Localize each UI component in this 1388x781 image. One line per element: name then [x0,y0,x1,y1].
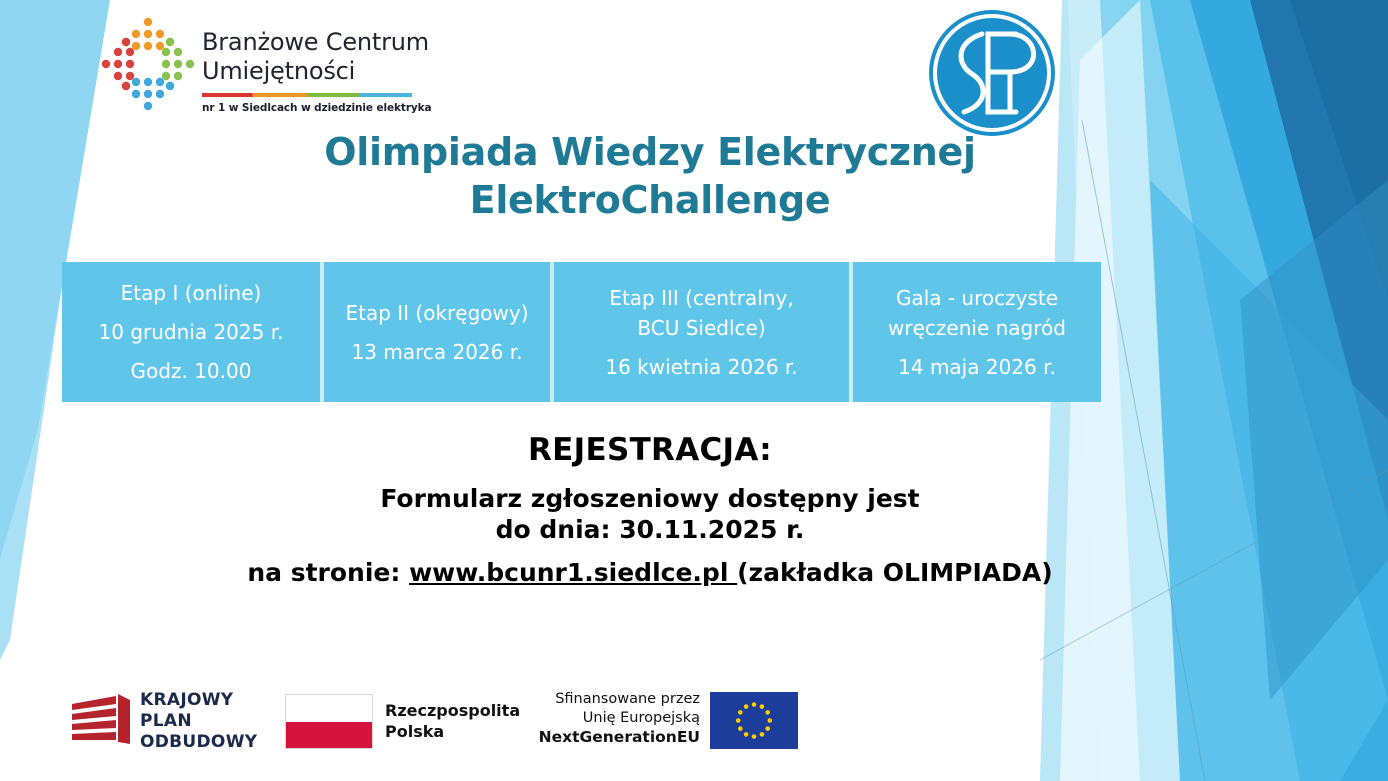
rp-line1: Rzeczpospolita [385,700,520,721]
kpo-logo: KRAJOWY PLAN ODBUDOWY [70,690,270,752]
stage-cell-2: Etap II (okręgowy) 13 marca 2026 r. [320,262,550,402]
kpo-line2: PLAN [140,711,257,732]
registration-heading: REJESTRACJA: [150,432,1150,468]
stage-cell-1: Etap I (online) 10 grudnia 2025 r. Godz.… [62,262,320,402]
eu-line3: NextGenerationEU [530,728,700,747]
registration-url-link[interactable]: www.bcunr1.siedlce.pl [409,558,737,587]
registration-body: Formularz zgłoszeniowy dostępny jest do … [150,483,1150,545]
stage-4-heading: Gala - uroczyste wręczenie nagród [888,283,1066,343]
eu-funding-logo: Sfinansowane przez Unię Europejską NextG… [530,688,800,754]
stage-4-date: 14 maja 2026 r. [898,352,1056,382]
stage-1-time: Godz. 10.00 [131,356,252,386]
registration-site-suffix: (zakładka OLIMPIADA) [737,558,1053,587]
footer-logos: KRAJOWY PLAN ODBUDOWY Rzeczpospolita Pol… [0,676,1388,766]
kpo-building-icon [70,694,132,746]
bcu-gradient-bar [202,93,412,97]
sep-logo [922,8,1062,138]
bcu-logo-text: Branżowe Centrum Umiejętności nr 1 w Sie… [202,28,420,114]
stage-cell-4: Gala - uroczyste wręczenie nagród 14 maj… [849,262,1101,402]
stage-1-heading: Etap I (online) [121,278,262,308]
republic-of-poland-logo: Rzeczpospolita Polska [285,692,515,750]
kpo-logo-text: KRAJOWY PLAN ODBUDOWY [140,690,257,753]
stage-3-date: 16 kwietnia 2026 r. [605,352,797,382]
flag-red-stripe [286,722,372,749]
stage-1-date: 10 grudnia 2025 r. [99,317,284,347]
bcu-logo-tagline: nr 1 w Siedlcach w dziedzinie elektryka [202,102,420,114]
bcu-logo: Branżowe Centrum Umiejętności nr 1 w Sie… [98,14,420,114]
title-line-2: ElektroChallenge [150,176,1150,224]
kpo-line3: ODBUDOWY [140,732,257,753]
registration-site-line: na stronie: www.bcunr1.siedlce.pl (zakła… [150,558,1150,587]
kpo-line1: KRAJOWY [140,690,257,711]
republic-of-poland-text: Rzeczpospolita Polska [385,700,520,742]
eu-funding-text: Sfinansowane przez Unię Europejską NextG… [530,690,700,747]
bcu-logo-line1: Branżowe Centrum [202,28,420,57]
eu-flag-icon [710,692,798,749]
eu-line1: Sfinansowane przez [530,690,700,709]
registration-site-prefix: na stronie: [247,558,409,587]
flag-white-stripe [286,695,372,722]
rp-line2: Polska [385,721,520,742]
poster-canvas: Branżowe Centrum Umiejętności nr 1 w Sie… [0,0,1388,781]
eu-line2: Unię Europejską [530,709,700,728]
stages-table: Etap I (online) 10 grudnia 2025 r. Godz.… [62,262,1101,402]
stage-cell-3: Etap III (centralny, BCU Siedlce) 16 kwi… [550,262,849,402]
title-line-1: Olimpiada Wiedzy Elektrycznej [324,130,975,174]
bcu-logo-line2: Umiejętności [202,57,420,86]
stage-2-heading: Etap II (okręgowy) [345,298,528,328]
bcu-burst-icon [98,14,198,114]
stage-3-heading: Etap III (centralny, BCU Siedlce) [609,283,793,343]
page-title: Olimpiada Wiedzy Elektrycznej ElektroCha… [150,128,1150,224]
stage-2-date: 13 marca 2026 r. [352,337,523,367]
poland-flag-icon [285,694,373,749]
